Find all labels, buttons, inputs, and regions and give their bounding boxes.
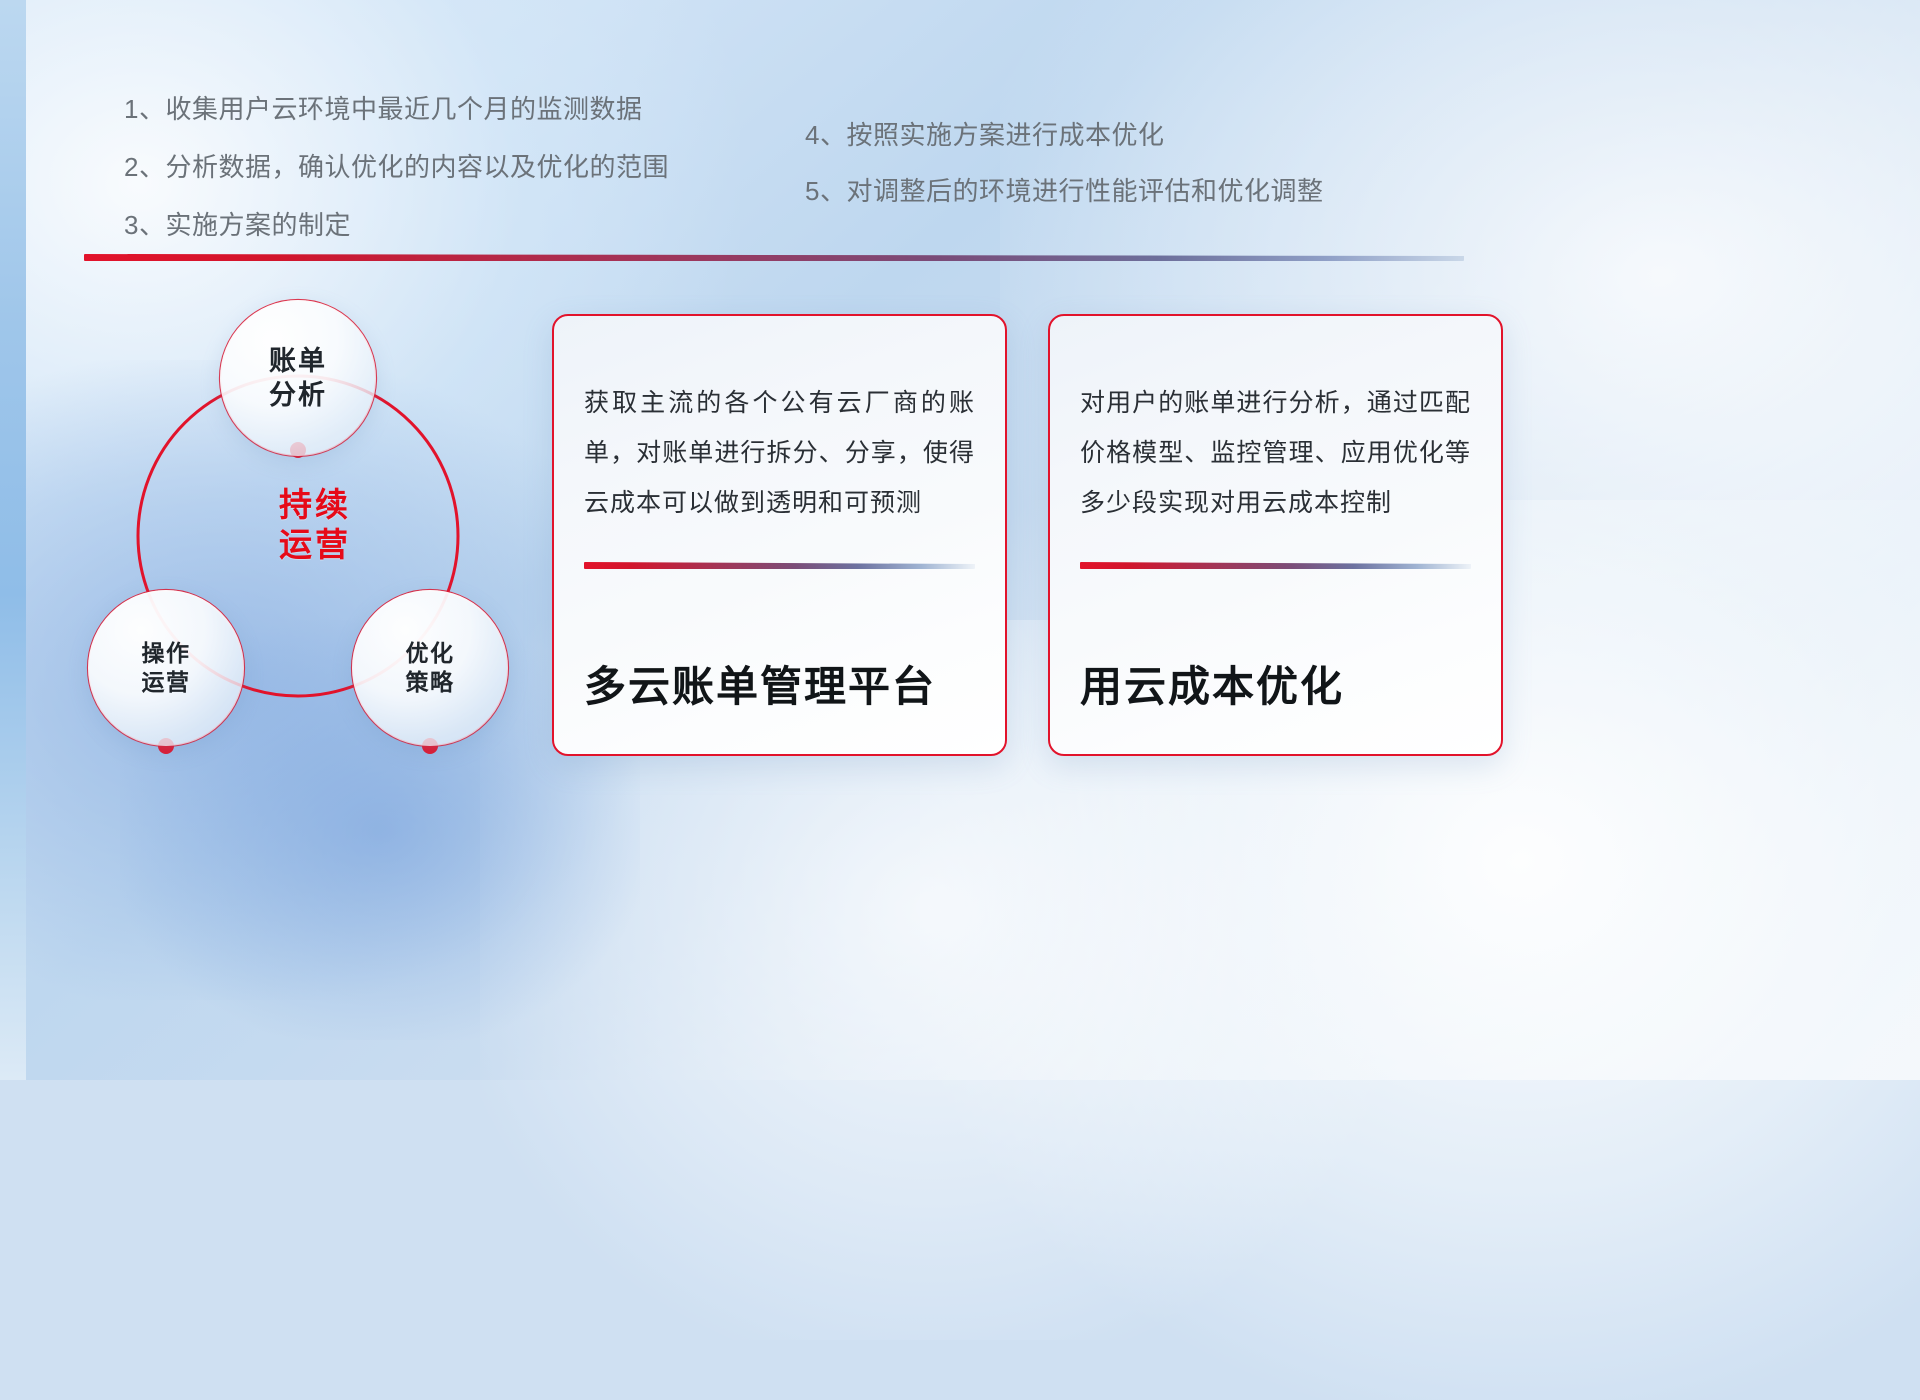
process-step-2: 2、分析数据，确认优化的内容以及优化的范围 — [124, 154, 824, 180]
process-steps-left-column: 1、收集用户云环境中最近几个月的监测数据 2、分析数据，确认优化的内容以及优化的… — [124, 96, 824, 270]
process-steps-right-column: 4、按照实施方案进行成本优化 5、对调整后的环境进行性能评估和优化调整 — [805, 122, 1525, 234]
venn-bubble-optimization-strategy[interactable]: 优化 策略 — [352, 590, 508, 746]
card-multicloud-billing-platform[interactable]: 获取主流的各个公有云厂商的账单，对账单进行拆分、分享，使得云成本可以做到透明和可… — [552, 314, 1007, 756]
card-accent-rule — [1080, 562, 1471, 569]
venn-bubble-label-line1: 操作 — [142, 639, 191, 668]
continuous-operation-venn-diagram: 账单 分析 操作 运营 优化 策略 持续 运营 — [80, 290, 550, 770]
venn-bubble-label-line1: 账单 — [269, 344, 327, 378]
venn-bubble-billing-analysis[interactable]: 账单 分析 — [220, 300, 376, 456]
process-step-5: 5、对调整后的环境进行性能评估和优化调整 — [805, 178, 1525, 204]
background-left-edge-strip — [0, 0, 26, 1080]
venn-bubble-label-line2: 运营 — [142, 668, 191, 697]
card-body-text: 获取主流的各个公有云厂商的账单，对账单进行拆分、分享，使得云成本可以做到透明和可… — [554, 316, 1005, 528]
card-title: 多云账单管理平台 — [554, 664, 1005, 754]
card-title: 用云成本优化 — [1050, 664, 1501, 754]
venn-center-label: 持续 运营 — [240, 485, 390, 566]
venn-center-label-line2: 运营 — [240, 525, 390, 565]
venn-bubble-operations[interactable]: 操作 运营 — [88, 590, 244, 746]
process-step-1: 1、收集用户云环境中最近几个月的监测数据 — [124, 96, 824, 122]
process-step-4: 4、按照实施方案进行成本优化 — [805, 122, 1525, 148]
card-accent-rule — [584, 562, 975, 569]
venn-center-label-line1: 持续 — [240, 485, 390, 525]
venn-bubble-label-line1: 优化 — [406, 639, 455, 668]
card-body-text: 对用户的账单进行分析，通过匹配价格模型、监控管理、应用优化等多少段实现对用云成本… — [1050, 316, 1501, 528]
venn-bubble-label-line2: 策略 — [406, 668, 455, 697]
venn-bubble-label-line2: 分析 — [269, 378, 327, 412]
card-cloud-cost-optimization[interactable]: 对用户的账单进行分析，通过匹配价格模型、监控管理、应用优化等多少段实现对用云成本… — [1048, 314, 1503, 756]
process-step-3: 3、实施方案的制定 — [124, 212, 824, 238]
